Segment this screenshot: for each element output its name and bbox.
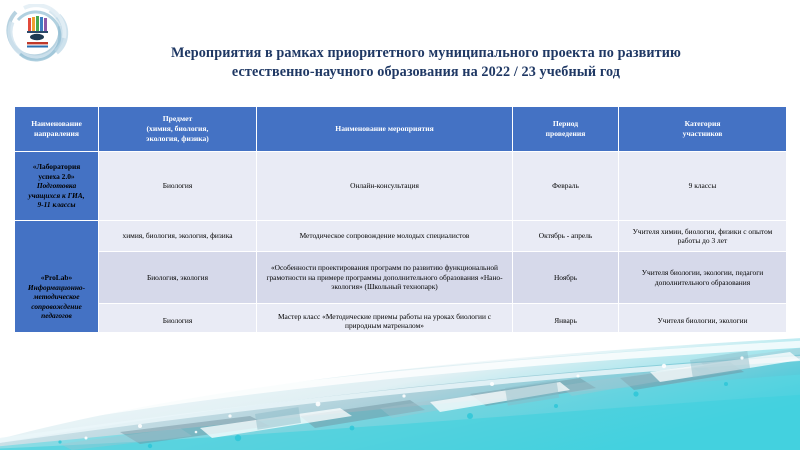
table-header-row: Наименование направления Предмет (химия,…: [15, 107, 787, 152]
section-line: учащихся к ГИА,: [18, 191, 95, 200]
header-line: Категория: [685, 119, 721, 128]
section-line: педагогов: [18, 311, 95, 320]
column-header-subject: Предмет (химия, биология, экология, физи…: [99, 107, 257, 152]
slide-title: Мероприятия в рамках приоритетного муниц…: [96, 44, 756, 82]
cell-participants: Учителя химии, биологии, физики с опытом…: [619, 221, 787, 252]
column-header-participants: Категория участников: [619, 107, 787, 152]
table-body: «Лаборатория успеха 2.0» Подготовка учащ…: [15, 152, 787, 374]
cell-period: Январь: [513, 304, 619, 339]
activities-table: Наименование направления Предмет (химия,…: [14, 106, 787, 374]
organization-logo: [6, 4, 70, 66]
cell-event: Применение современного учебного оборудо…: [257, 339, 513, 374]
cell-event: Методическое сопровождение молодых специ…: [257, 221, 513, 252]
section-line: 9-11 классы: [18, 200, 95, 209]
cell-period: Ноябрь: [513, 252, 619, 304]
cell-period: Октябрь - апрель: [513, 221, 619, 252]
table-row: «Лаборатория успеха 2.0» Подготовка учащ…: [15, 152, 787, 221]
section-cell-laboratory: «Лаборатория успеха 2.0» Подготовка учащ…: [15, 152, 99, 221]
table-row: «ProLab» Информационно- методическое соп…: [15, 221, 787, 252]
logo-emblem-icon: [27, 16, 48, 48]
cell-participants: Учителя биологии, экологии: [619, 304, 787, 339]
header-line: Предмет: [163, 114, 193, 123]
cell-subject: химия, биология, экология, физика: [99, 221, 257, 252]
slide-title-line-2: естественно-научного образования на 2022…: [96, 63, 756, 82]
cell-period: Февраль: [513, 152, 619, 221]
cell-participants: 9 классы: [619, 152, 787, 221]
section-line: «ProLab»: [18, 273, 95, 282]
cell-event: Онлайн-консультация: [257, 152, 513, 221]
slide-title-line-1: Мероприятия в рамках приоритетного муниц…: [171, 45, 681, 61]
section-line: успеха 2.0»: [18, 172, 95, 181]
header-line: участников: [683, 129, 723, 138]
activities-table-container: Наименование направления Предмет (химия,…: [14, 106, 786, 374]
cell-subject: Биология: [99, 152, 257, 221]
header-line: Наименование мероприятия: [335, 124, 433, 133]
slide-canvas: Мероприятия в рамках приоритетного муниц…: [0, 0, 800, 450]
table-row: Физика, химия, биология Применение совре…: [15, 339, 787, 374]
cell-participants: Учителя биологии, экологии, педагоги доп…: [619, 252, 787, 304]
cell-subject: Биология: [99, 304, 257, 339]
cell-event: «Особенности проектирования программ по …: [257, 252, 513, 304]
header-line: (химия, биология,: [147, 124, 209, 133]
cell-participants: Учителя физики, химии, биологии МБОУ «СТ…: [619, 339, 787, 374]
header-line: Наименование: [31, 119, 82, 128]
section-line: Информационно-: [18, 283, 95, 292]
section-cell-prolab: «ProLab» Информационно- методическое соп…: [15, 221, 99, 374]
cell-period: Апрель: [513, 339, 619, 374]
cell-event: Мастер класс «Методические приемы работы…: [257, 304, 513, 339]
column-header-period: Период проведения: [513, 107, 619, 152]
header-line: проведения: [546, 129, 586, 138]
table-row: Биология, экология «Особенности проектир…: [15, 252, 787, 304]
column-header-direction: Наименование направления: [15, 107, 99, 152]
section-line: сопровождение: [18, 302, 95, 311]
table-header: Наименование направления Предмет (химия,…: [15, 107, 787, 152]
header-line: направления: [34, 129, 79, 138]
table-row: Биология Мастер класс «Методические прие…: [15, 304, 787, 339]
section-line: «Лаборатория: [18, 162, 95, 171]
section-line: методическое: [18, 292, 95, 301]
section-line: Подготовка: [18, 181, 95, 190]
header-line: Период: [553, 119, 578, 128]
cell-subject: Физика, химия, биология: [99, 339, 257, 374]
column-header-event: Наименование мероприятия: [257, 107, 513, 152]
header-line: экология, физика): [146, 134, 209, 143]
cell-subject: Биология, экология: [99, 252, 257, 304]
